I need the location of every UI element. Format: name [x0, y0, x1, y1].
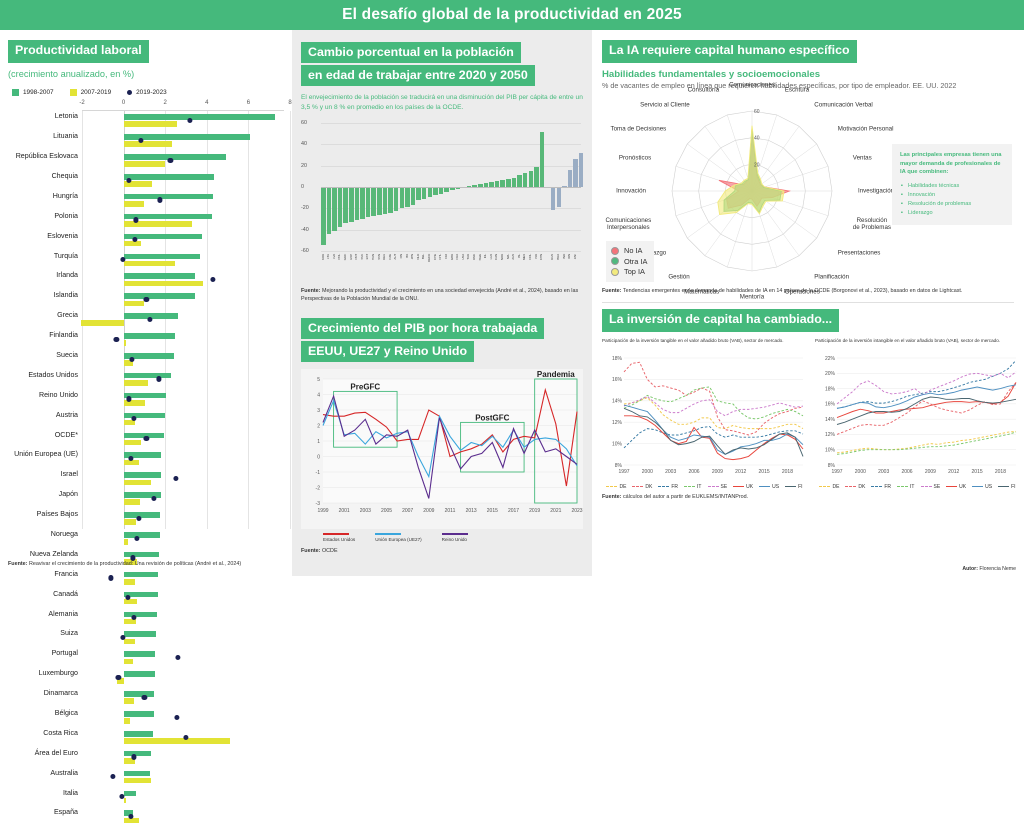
- radar-axis-label: Ventas: [853, 155, 872, 162]
- country-code-label: GBR: [450, 254, 454, 260]
- country-label: Australia: [50, 769, 78, 777]
- svg-text:PostGFC: PostGFC: [475, 414, 509, 423]
- svg-text:-1: -1: [316, 470, 321, 476]
- bar: [124, 161, 166, 167]
- svg-text:20%: 20%: [825, 371, 836, 377]
- bar-row: Chequia: [82, 171, 284, 191]
- radar-axis-label: Presentaciones: [838, 250, 881, 257]
- data-point: [168, 158, 173, 163]
- bar: [124, 539, 128, 545]
- country-label: Chequia: [52, 172, 78, 180]
- svg-text:2006: 2006: [688, 469, 699, 475]
- svg-text:1999: 1999: [317, 508, 328, 514]
- country-code-label: CAN: [494, 254, 498, 260]
- bar: [124, 114, 276, 120]
- callout-list-item: Resolución de problemas: [908, 200, 1004, 209]
- bar: [124, 141, 173, 147]
- country-code-label: SWE: [478, 254, 482, 260]
- svg-text:2003: 2003: [360, 508, 371, 514]
- population-bar: [366, 187, 371, 217]
- bar: [124, 121, 177, 127]
- y-tick-label: -40: [301, 227, 309, 233]
- source-text: Mejorando la productividad y el crecimie…: [301, 288, 578, 302]
- population-bar: [349, 187, 354, 222]
- bar-row: Costa Rica: [82, 728, 284, 748]
- investment-legend-item: UK: [733, 484, 753, 490]
- svg-text:2021: 2021: [550, 508, 561, 514]
- svg-text:10%: 10%: [612, 441, 623, 447]
- bar: [124, 499, 141, 505]
- investment-legend-item: IT: [897, 484, 914, 490]
- country-code-label: DEU: [382, 254, 386, 260]
- data-point: [175, 655, 180, 660]
- radar-axis-label: Innovación: [616, 187, 646, 194]
- radar-axis-label: Servicio al Cliente: [640, 102, 690, 109]
- country-label: Finlandia: [49, 331, 78, 339]
- data-point: [142, 695, 147, 700]
- svg-text:3: 3: [317, 408, 320, 414]
- svg-text:2001: 2001: [339, 508, 350, 514]
- pib-title-line1: Crecimiento del PIB por hora trabajada: [301, 318, 544, 339]
- svg-text:10%: 10%: [825, 447, 836, 453]
- bar-row: Unión Europea (UE): [82, 449, 284, 469]
- data-point: [131, 754, 136, 759]
- bar-row: OCDE*: [82, 430, 284, 450]
- bar: [124, 512, 160, 518]
- columns-container: Productividad laboral (crecimiento anual…: [0, 30, 1024, 576]
- bar: [124, 731, 153, 737]
- source-prefix: Fuente:: [602, 494, 621, 500]
- bar-row: Suecia: [82, 350, 284, 370]
- bar: [124, 293, 196, 299]
- x-tick-label: 0: [122, 100, 125, 106]
- svg-text:2019: 2019: [529, 508, 540, 514]
- productividad-title: Productividad laboral: [8, 40, 149, 63]
- country-label: Reino Unido: [39, 391, 78, 399]
- bar: [124, 639, 135, 645]
- svg-text:20: 20: [754, 162, 760, 168]
- y-tick-label: 60: [301, 120, 307, 126]
- population-bar: [338, 187, 343, 226]
- bar: [124, 771, 150, 777]
- gridline: [321, 251, 581, 252]
- population-bar: [523, 173, 528, 187]
- bar: [124, 711, 154, 717]
- country-code-label: FIN: [399, 254, 403, 258]
- bar-row: Canadá: [82, 589, 284, 609]
- bar-row: Hungría: [82, 191, 284, 211]
- investment-legend-item: SE: [708, 484, 728, 490]
- inversion-tangible-legend: DEDKFRITSEUKUSFI: [602, 484, 807, 490]
- svg-text:2017: 2017: [508, 508, 519, 514]
- country-code-label: LUX: [489, 254, 493, 259]
- country-label: Francia: [54, 570, 78, 578]
- country-label: Bélgica: [55, 709, 78, 717]
- bar: [124, 254, 200, 260]
- country-code-label: IRL: [483, 254, 487, 258]
- bar-row: República Eslovaca: [82, 151, 284, 171]
- country-code-label: BEL: [421, 254, 425, 259]
- radar-legend-item: Top IA: [611, 267, 647, 276]
- data-point: [114, 337, 119, 342]
- bar: [124, 373, 172, 379]
- data-point: [173, 476, 178, 481]
- country-label: Portugal: [52, 649, 78, 657]
- population-bar: [534, 167, 539, 187]
- country-label: Israel: [61, 470, 78, 478]
- inversion-title: La inversión de capital ha cambiado...: [602, 309, 839, 332]
- country-label: Austria: [56, 411, 78, 419]
- pib-legend: Estados UnidosUnión Europea (UE27)Reino …: [323, 533, 583, 542]
- poblacion-title-line1: Cambio porcentual en la población: [301, 42, 521, 63]
- inversion-tangible-title: Participación de la inversión tangible e…: [602, 338, 807, 350]
- radar-axis-label: Comunicaciones Interpersonales: [605, 217, 651, 231]
- country-code-label: RUS: [550, 254, 554, 260]
- inversion-source: Fuente: cálculos del autor a partir de E…: [602, 494, 1014, 502]
- country-code-label: KOR: [321, 254, 325, 260]
- poblacion-bar-chart: -60-40-200204060KORLTULVAPOLGRCESPPRTSVK…: [301, 121, 583, 286]
- author-name: Florencia Neme: [979, 566, 1016, 572]
- country-code-label: NZL: [506, 254, 510, 259]
- productividad-bar-chart: -202468 LetoniaLituaniaRepública Eslovac…: [10, 100, 284, 529]
- legend-item-1998-2007: 1998-2007: [12, 89, 54, 96]
- data-point: [111, 774, 116, 779]
- panel-columna-central: Cambio porcentual en la población en eda…: [292, 30, 592, 576]
- yellow-swatch-icon: [70, 89, 77, 96]
- bar-row: Lituania: [82, 131, 284, 151]
- country-label: Estados Unidos: [28, 371, 78, 379]
- radar-axis-label: Matemáticas: [684, 288, 719, 295]
- country-code-label: AUS: [511, 254, 515, 260]
- country-label: Nueva Zelanda: [30, 550, 78, 558]
- legend-item: Unión Europea (UE27): [375, 533, 421, 542]
- data-point: [129, 357, 134, 362]
- investment-svg-1: 8%10%12%14%16%18%20%22%19972000200320062…: [815, 353, 1020, 481]
- ia-subtitle: Habilidades fundamentales y socioemocion…: [602, 69, 1014, 80]
- bar: [124, 691, 154, 697]
- bar: [124, 480, 151, 486]
- country-code-label: NLD: [416, 254, 420, 260]
- data-point: [109, 575, 114, 580]
- country-label: Letonia: [55, 112, 78, 120]
- investment-legend-item: FR: [658, 484, 678, 490]
- svg-text:12%: 12%: [825, 432, 836, 438]
- data-point: [151, 496, 156, 501]
- country-code-label: HUN: [371, 254, 375, 260]
- country-code-label: SVN: [377, 254, 381, 260]
- svg-text:18%: 18%: [825, 386, 836, 392]
- country-code-label: LTU: [326, 254, 330, 259]
- bar: [124, 718, 130, 724]
- bar-row: Eslovenia: [82, 231, 284, 251]
- country-code-label: ISR: [534, 254, 538, 259]
- svg-text:5: 5: [317, 377, 320, 383]
- radar-axis-label: Escritura: [785, 87, 809, 94]
- bar: [124, 572, 158, 578]
- bar: [124, 273, 196, 279]
- population-bar: [500, 180, 505, 187]
- svg-text:-2: -2: [316, 485, 321, 491]
- bar: [124, 472, 161, 478]
- population-bar: [343, 187, 348, 223]
- country-label: Polonia: [54, 212, 78, 220]
- gridline: [321, 230, 581, 231]
- svg-text:2015: 2015: [759, 469, 770, 475]
- radar-axis-label: Mentoría: [740, 293, 764, 300]
- x-axis-ticks: -202468: [82, 100, 284, 111]
- bar: [124, 333, 175, 339]
- bar-row: Francia: [82, 569, 284, 589]
- svg-text:2012: 2012: [735, 469, 746, 475]
- country-code-label: TUR: [466, 254, 470, 260]
- investment-legend-item: UK: [946, 484, 966, 490]
- callout-list-item: Innovación: [908, 191, 1004, 200]
- bar-row: Japón: [82, 489, 284, 509]
- population-bar: [512, 178, 517, 188]
- country-code-label: USA: [461, 254, 465, 260]
- population-bar: [416, 187, 421, 200]
- bar: [124, 194, 213, 200]
- country-label: Dinamarca: [44, 689, 78, 697]
- bar: [124, 413, 166, 419]
- country-label: España: [54, 808, 78, 816]
- radar-axis-label: Motivación Personal: [838, 125, 894, 132]
- country-code-label: CHE: [433, 254, 437, 260]
- bar-row: Turquía: [82, 251, 284, 271]
- data-point: [188, 118, 193, 123]
- country-code-label: POL: [337, 254, 341, 260]
- svg-text:2: 2: [317, 423, 320, 429]
- population-bar: [355, 187, 360, 220]
- population-bar: [394, 187, 399, 210]
- bar: [81, 320, 124, 326]
- svg-text:2003: 2003: [878, 469, 889, 475]
- bar: [124, 698, 134, 704]
- bar: [124, 659, 133, 665]
- investment-legend-item: DK: [632, 484, 652, 490]
- svg-text:2007: 2007: [402, 508, 413, 514]
- country-label: Grecia: [57, 311, 78, 319]
- inversion-intangible-legend: DEDKFRITSEUKUSFI: [815, 484, 1020, 490]
- x-tick-label: 4: [205, 100, 208, 106]
- svg-text:2018: 2018: [995, 469, 1006, 475]
- data-point: [131, 416, 136, 421]
- radar-axis-label: Comunicaciones: [729, 81, 775, 88]
- pib-line-chart: -3-2-10123451999200120032005200720092011…: [301, 369, 583, 529]
- country-label: Noruega: [51, 530, 78, 538]
- poblacion-title-line2: en edad de trabajar entre 2020 y 2050: [301, 65, 535, 86]
- bar: [124, 174, 214, 180]
- country-code-label: DNK: [472, 254, 476, 260]
- data-point: [210, 277, 215, 282]
- svg-text:4: 4: [317, 392, 320, 398]
- bar-row: Letonia: [82, 111, 284, 131]
- svg-text:2005: 2005: [381, 508, 392, 514]
- y-tick-label: -60: [301, 248, 309, 254]
- country-code-label: SVK: [360, 254, 364, 260]
- bar: [124, 440, 142, 446]
- source-text: OCDE: [322, 548, 338, 554]
- country-label: Costa Rica: [43, 729, 78, 737]
- investment-legend-item: US: [759, 484, 779, 490]
- svg-text:0: 0: [317, 454, 320, 460]
- bar-rows-container: LetoniaLituaniaRepública EslovacaChequia…: [82, 111, 284, 529]
- svg-text:14%: 14%: [825, 417, 836, 423]
- population-bar: [540, 132, 545, 187]
- pib-svg: -3-2-10123451999200120032005200720092011…: [301, 369, 583, 529]
- svg-text:2003: 2003: [665, 469, 676, 475]
- country-label: Hungría: [53, 192, 78, 200]
- country-label: Canadá: [53, 590, 78, 598]
- green-swatch-icon: [12, 89, 19, 96]
- country-code-label: ZAF: [573, 254, 577, 259]
- country-code-label: CZE: [388, 254, 392, 260]
- legend-item-2007-2019: 2007-2019: [70, 89, 112, 96]
- legend-label: 2019-2023: [136, 89, 167, 96]
- svg-text:22%: 22%: [825, 355, 836, 361]
- source-prefix: Fuente:: [8, 561, 27, 567]
- bar: [124, 154, 226, 160]
- bar: [124, 651, 155, 657]
- svg-text:2006: 2006: [901, 469, 912, 475]
- bar: [124, 671, 155, 677]
- country-code-label: MEX: [522, 254, 526, 260]
- bar-row: Finlandia: [82, 330, 284, 350]
- bar: [124, 261, 175, 267]
- country-code-label: PRT: [354, 254, 358, 260]
- country-label: OCDE*: [55, 431, 78, 439]
- population-bar: [428, 187, 433, 197]
- bar: [124, 778, 151, 784]
- svg-text:2015: 2015: [972, 469, 983, 475]
- bar: [124, 579, 135, 585]
- bar-row: España: [82, 807, 284, 827]
- bar-row: Estados Unidos: [82, 370, 284, 390]
- poblacion-blurb: El envejecimiento de la población se tra…: [301, 93, 583, 113]
- bar-row: Reino Unido: [82, 390, 284, 410]
- country-code-label: IND: [562, 254, 566, 259]
- population-bar: [433, 187, 438, 194]
- bar-row: Austria: [82, 410, 284, 430]
- callout-list-item: Habilidades técnicas: [908, 182, 1004, 191]
- legend-label: 1998-2007: [23, 89, 54, 96]
- source-prefix: Fuente:: [602, 288, 621, 294]
- source-prefix: Fuente:: [301, 288, 320, 294]
- svg-text:Pandemia: Pandemia: [537, 370, 575, 379]
- country-label: Luxemburgo: [39, 669, 78, 677]
- gridline: [321, 123, 581, 124]
- radar-axis-label: Operaciones: [785, 288, 820, 295]
- country-code-label: ITA: [405, 254, 409, 258]
- radar-axis-label: Pronósticos: [619, 155, 651, 162]
- source-prefix: Fuente:: [301, 548, 320, 554]
- pib-source: Fuente: OCDE: [301, 548, 583, 556]
- population-bar: [400, 187, 405, 208]
- author-prefix: Autor:: [962, 566, 978, 572]
- population-bar: [383, 187, 388, 214]
- svg-text:2009: 2009: [925, 469, 936, 475]
- x-tick-label: 6: [247, 100, 250, 106]
- bar-row: Australia: [82, 768, 284, 788]
- svg-text:-3: -3: [316, 501, 321, 507]
- population-bar: [517, 175, 522, 187]
- svg-text:2009: 2009: [712, 469, 723, 475]
- svg-text:1997: 1997: [618, 469, 629, 475]
- country-label: Alemania: [48, 610, 78, 618]
- divider: [602, 302, 1014, 303]
- country-label: Países Bajos: [37, 510, 78, 518]
- bar-row: Luxemburgo: [82, 668, 284, 688]
- radar-legend-item: No IA: [611, 246, 647, 255]
- source-text: Reavivar el crecimiento de la productivi…: [29, 561, 241, 567]
- svg-text:2015: 2015: [487, 508, 498, 514]
- investment-svg-0: 8%10%12%14%16%18%19972000200320062009201…: [602, 353, 807, 481]
- radar-axis-label: Consultoría: [688, 87, 720, 94]
- legend-item: Reino Unido: [442, 533, 468, 542]
- bar: [124, 798, 126, 804]
- bar: [124, 380, 148, 386]
- bar: [124, 751, 151, 757]
- bar-row: Suiza: [82, 628, 284, 648]
- population-bar: [321, 187, 326, 245]
- svg-text:14%: 14%: [612, 398, 623, 404]
- svg-text:2009: 2009: [423, 508, 434, 514]
- bar-row: Alemania: [82, 609, 284, 629]
- data-point: [156, 376, 161, 381]
- population-bar: [551, 187, 556, 209]
- country-code-label: NOR: [500, 254, 504, 260]
- country-code-label: JPN: [410, 254, 414, 259]
- bar-row: Irlanda: [82, 270, 284, 290]
- data-point: [135, 536, 140, 541]
- country-code-label: BRA: [556, 254, 560, 260]
- svg-text:18%: 18%: [612, 355, 623, 361]
- bar: [124, 532, 160, 538]
- country-label: Irlanda: [56, 271, 78, 279]
- country-code-label: AUT: [393, 254, 397, 260]
- bar: [124, 281, 203, 287]
- svg-text:16%: 16%: [825, 401, 836, 407]
- bar: [124, 791, 136, 797]
- data-point: [144, 436, 149, 441]
- zero-line: [321, 187, 581, 188]
- country-code-label: ESP: [349, 254, 353, 260]
- x-tick-label: 2: [164, 100, 167, 106]
- investment-legend-item: FI: [998, 484, 1015, 490]
- country-label: Área del Euro: [35, 749, 78, 757]
- bar: [124, 201, 145, 207]
- country-label: Japón: [59, 490, 78, 498]
- bar: [124, 301, 145, 307]
- country-label: República Eslovaca: [16, 152, 78, 160]
- bar-row: Israel: [82, 469, 284, 489]
- radar-legend: No IAOtra IATop IA: [606, 241, 654, 282]
- pib-title-line2: EEUU, UE27 y Reino Unido: [301, 341, 474, 362]
- bar-row: Bélgica: [82, 708, 284, 728]
- data-point: [144, 297, 149, 302]
- population-bar: [332, 187, 337, 231]
- radar-axis-label: Planificación: [814, 273, 849, 280]
- bar-row: Polonia: [82, 211, 284, 231]
- radar-axis-label: Comunicación Verbal: [814, 102, 872, 109]
- bar: [124, 738, 230, 744]
- country-code-label: GRC: [343, 254, 347, 260]
- svg-text:2012: 2012: [948, 469, 959, 475]
- bar-row: Dinamarca: [82, 688, 284, 708]
- svg-text:2000: 2000: [642, 469, 653, 475]
- country-code-label: CHL: [438, 254, 442, 260]
- bar-row: Islandia: [82, 290, 284, 310]
